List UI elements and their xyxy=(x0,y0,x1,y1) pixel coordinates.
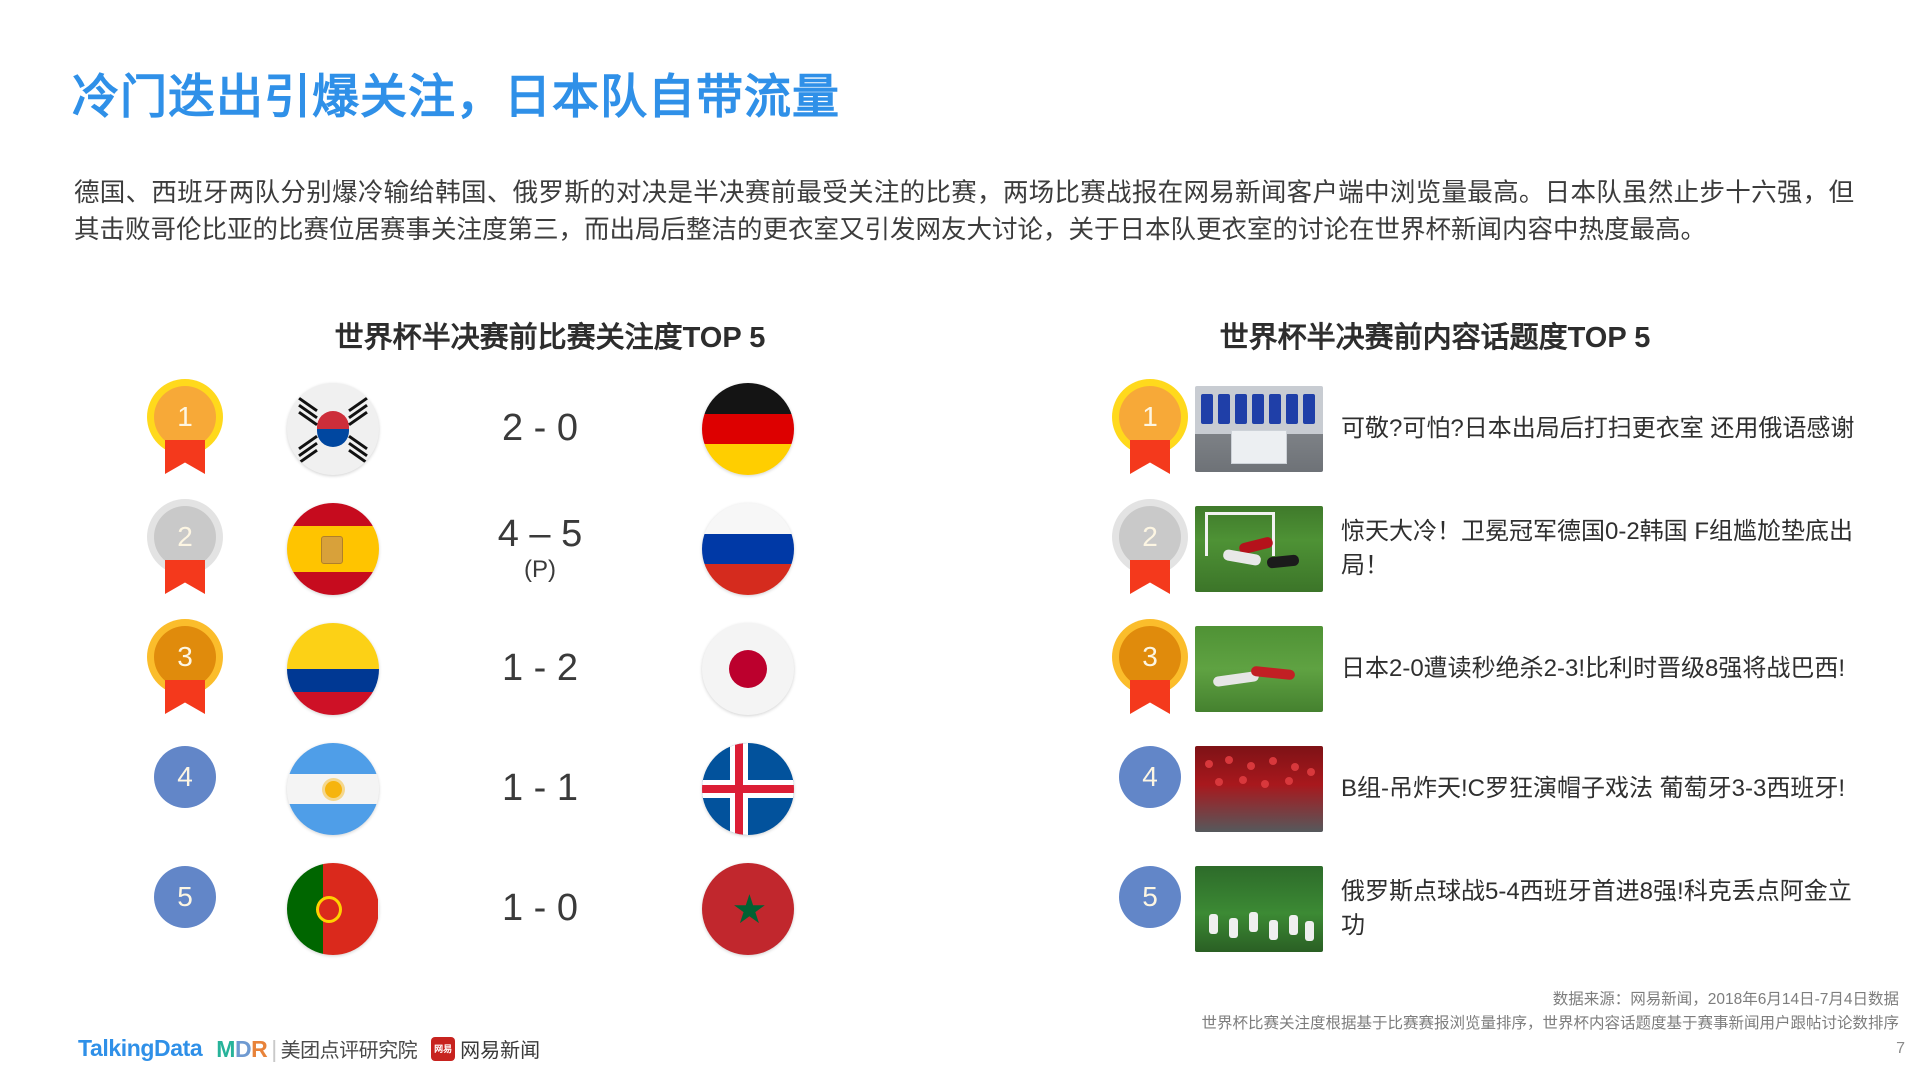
away-flag-cell xyxy=(655,383,840,475)
medal-badge-bronze: 3 xyxy=(154,626,216,712)
goal-save-photo xyxy=(1195,506,1323,592)
home-flag-cell xyxy=(240,383,425,475)
rank-cell: 2 xyxy=(130,506,240,592)
medal-badge-gold: 1 xyxy=(154,386,216,472)
score-cell: 1 - 0 xyxy=(425,889,655,929)
score-text: 2 - 0 xyxy=(502,407,578,449)
rank-number: 2 xyxy=(154,506,216,568)
table-row: 3 1 - 2 xyxy=(130,620,930,718)
iceland-flag xyxy=(702,743,794,835)
russia-flag xyxy=(702,503,794,595)
match-ranking-list: 1 xyxy=(130,380,930,980)
score-cell: 2 - 0 xyxy=(425,409,655,449)
score-text: 1 - 2 xyxy=(502,647,578,689)
table-row: 5 1 - 0 ★ xyxy=(130,860,930,958)
rank-number: 5 xyxy=(1119,866,1181,928)
pentagram-icon: ★ xyxy=(732,894,764,926)
rank-cell: 1 xyxy=(1105,386,1195,472)
colombia-flag xyxy=(287,623,379,715)
list-item[interactable]: 5 俄罗斯点球战5-4西班牙首进8强!科克丢点阿金立功 xyxy=(1105,860,1905,958)
slide-page: 冷门迭出引爆关注，日本队自带流量 德国、西班牙两队分别爆冷输给韩国、俄罗斯的对决… xyxy=(0,0,1921,1080)
score-text: 1 - 0 xyxy=(502,887,578,929)
rank-cell: 3 xyxy=(130,626,240,712)
home-flag-cell xyxy=(240,743,425,835)
medal-badge-silver: 2 xyxy=(154,506,216,592)
rank-cell: 3 xyxy=(1105,626,1195,712)
mdr-logo: MDR|美团点评研究院 xyxy=(216,1034,417,1063)
rank-number: 3 xyxy=(154,626,216,688)
locker-room-photo xyxy=(1195,386,1323,472)
meituan-research-label: 美团点评研究院 xyxy=(281,1040,418,1062)
rank-cell: 1 xyxy=(130,386,240,472)
medal-badge-silver: 2 xyxy=(1119,506,1181,592)
ribbon-icon xyxy=(1130,560,1170,594)
rank-badge-5: 5 xyxy=(1119,866,1181,952)
away-flag-cell xyxy=(655,743,840,835)
portugal-coat-of-arms xyxy=(316,896,342,923)
rank-number: 1 xyxy=(154,386,216,448)
score-cell: 1 - 2 xyxy=(425,649,655,689)
score-cell: 1 - 1 xyxy=(425,769,655,809)
netease-news-label: 网易新闻 xyxy=(460,1040,540,1062)
away-flag-cell xyxy=(655,623,840,715)
argentina-flag xyxy=(287,743,379,835)
page-title: 冷门迭出引爆关注，日本队自带流量 xyxy=(72,58,840,127)
list-item[interactable]: 2 惊天大冷！卫冕冠军德国0-2韩国 F组尴尬垫底出局！ xyxy=(1105,500,1905,598)
logo-divider: | xyxy=(271,1036,276,1062)
source-note: 数据来源：网易新闻，2018年6月14日-7月4日数据 世界杯比赛关注度根据基于… xyxy=(799,988,1899,1036)
medal-badge-bronze: 3 xyxy=(1119,626,1181,712)
score-cell: 4 – 5 (P) xyxy=(425,515,655,582)
home-flag-cell xyxy=(240,503,425,595)
rank-cell: 4 xyxy=(1105,746,1195,832)
rank-number: 4 xyxy=(154,746,216,808)
list-item[interactable]: 4 B组-吊炸天!C罗狂演帽子戏法 葡萄牙3-3西班牙! xyxy=(1105,740,1905,838)
intro-paragraph: 德国、西班牙两队分别爆冷输给韩国、俄罗斯的对决是半决赛前最受关注的比赛，两场比赛… xyxy=(74,175,1854,249)
away-flag-cell: ★ xyxy=(655,863,840,955)
source-line-1: 数据来源：网易新闻，2018年6月14日-7月4日数据 xyxy=(799,988,1899,1012)
japan-flag xyxy=(702,623,794,715)
list-item[interactable]: 3 日本2-0遭读秒绝杀2-3!比利时晋级8强将战巴西! xyxy=(1105,620,1905,718)
spain-coat-of-arms xyxy=(321,536,343,564)
source-line-2: 世界杯比赛关注度根据基于比赛赛报浏览量排序，世界杯内容话题度基于赛事新闻用户跟帖… xyxy=(799,1012,1899,1036)
away-flag-cell xyxy=(655,503,840,595)
sun-of-may xyxy=(325,781,342,798)
talkingdata-logo: TalkingData xyxy=(78,1035,202,1062)
ribbon-icon xyxy=(165,560,205,594)
home-flag-cell xyxy=(240,623,425,715)
rank-cell: 5 xyxy=(1105,866,1195,952)
ribbon-icon xyxy=(1130,440,1170,474)
netease-logo: 网易网易新闻 xyxy=(431,1034,540,1063)
left-panel-heading: 世界杯半决赛前比赛关注度TOP 5 xyxy=(170,314,930,356)
logo-bar: TalkingData MDR|美团点评研究院 网易网易新闻 xyxy=(78,1034,540,1063)
table-row: 1 xyxy=(130,380,930,478)
netease-mark-icon: 网易 xyxy=(431,1037,455,1061)
news-headline[interactable]: 惊天大冷！卫冕冠军德国0-2韩国 F组尴尬垫底出局！ xyxy=(1341,515,1861,583)
score-text: 1 - 1 xyxy=(502,767,578,809)
penalty-note: (P) xyxy=(425,557,655,582)
taeguk-bottom xyxy=(317,429,349,447)
table-row: 4 1 - 1 xyxy=(130,740,930,838)
score-text: 4 – 5 xyxy=(498,513,583,555)
mdr-letter-m: M xyxy=(216,1036,235,1062)
medal-badge-gold: 1 xyxy=(1119,386,1181,472)
red-crowd-photo xyxy=(1195,746,1323,832)
rank-badge-4: 4 xyxy=(154,746,216,832)
list-item[interactable]: 1 可敬?可怕?日本出局后打扫更衣室 还用俄语感谢 xyxy=(1105,380,1905,478)
ribbon-icon xyxy=(165,440,205,474)
news-headline[interactable]: 可敬?可怕?日本出局后打扫更衣室 还用俄语感谢 xyxy=(1341,412,1861,446)
ribbon-icon xyxy=(1130,680,1170,714)
news-headline[interactable]: 俄罗斯点球战5-4西班牙首进8强!科克丢点阿金立功 xyxy=(1341,875,1861,943)
mdr-letter-d: D xyxy=(235,1036,251,1062)
korea-flag xyxy=(287,383,379,475)
rank-badge-5: 5 xyxy=(154,866,216,952)
taeguk-top xyxy=(317,411,349,429)
germany-flag xyxy=(702,383,794,475)
table-row: 2 4 – 5 (P) xyxy=(130,500,930,598)
news-ranking-list: 1 可敬?可怕?日本出局后打扫更衣室 还用俄语感谢 2 xyxy=(1105,380,1905,980)
rank-number: 4 xyxy=(1119,746,1181,808)
spain-flag xyxy=(287,503,379,595)
rank-number: 3 xyxy=(1119,626,1181,688)
page-number: 7 xyxy=(1896,1040,1905,1058)
rising-sun xyxy=(729,650,767,688)
rank-number: 2 xyxy=(1119,506,1181,568)
right-panel-heading: 世界杯半决赛前内容话题度TOP 5 xyxy=(1055,314,1815,356)
news-headline[interactable]: 日本2-0遭读秒绝杀2-3!比利时晋级8强将战巴西! xyxy=(1341,652,1861,686)
rank-cell: 2 xyxy=(1105,506,1195,592)
morocco-flag: ★ xyxy=(702,863,794,955)
rank-badge-4: 4 xyxy=(1119,746,1181,832)
mdr-letter-r: R xyxy=(251,1036,267,1062)
players-on-ground-photo xyxy=(1195,626,1323,712)
rank-cell: 5 xyxy=(130,866,240,952)
celebration-photo xyxy=(1195,866,1323,952)
rank-number: 1 xyxy=(1119,386,1181,448)
ribbon-icon xyxy=(165,680,205,714)
home-flag-cell xyxy=(240,863,425,955)
rank-cell: 4 xyxy=(130,746,240,832)
portugal-flag xyxy=(287,863,379,955)
rank-number: 5 xyxy=(154,866,216,928)
news-headline[interactable]: B组-吊炸天!C罗狂演帽子戏法 葡萄牙3-3西班牙! xyxy=(1341,772,1861,806)
